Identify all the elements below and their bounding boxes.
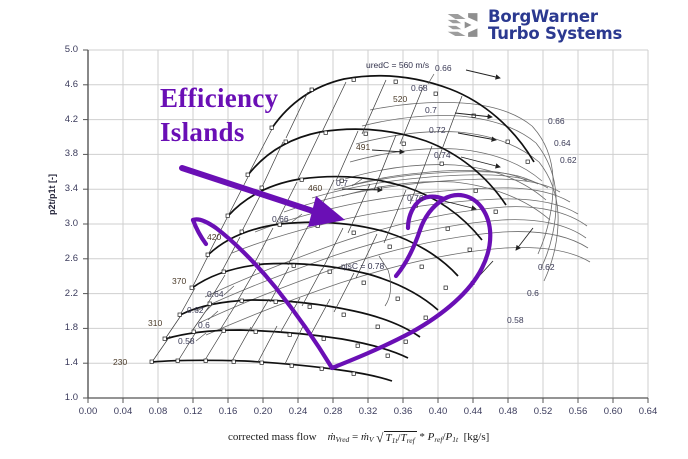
x-axis-t1t-sub: 1t [392,436,398,445]
chart-canvas [0,0,688,459]
x-tick-label: 0.28 [313,406,353,417]
x-tick-label: 0.20 [243,406,283,417]
y-tick-label: 3.0 [52,218,78,229]
efficiency-label: 0.7 [336,178,348,188]
efficiency-label: 0.72 [429,125,446,135]
efficiency-label: 0.6 [527,288,539,298]
efficiency-label: 0.64 [554,138,571,148]
y-tick-label: 1.4 [52,357,78,368]
speed-label-370: 370 [172,276,186,286]
efficiency-label: 0.62 [538,262,555,272]
x-tick-label: 0.00 [68,406,108,417]
x-tick-label: 0.60 [593,406,633,417]
callout-line-1: Efficiency [160,82,278,116]
x-axis-title: corrected mass flow ṁVred = ṁV √T1t/Tref… [228,428,489,444]
y-tick-label: 2.6 [52,253,78,264]
y-axis-title: p2t/p1t [-] [47,174,57,215]
x-axis-p1t-sub: 1t [452,435,458,444]
efficiency-label: 0.58 [507,315,524,325]
x-axis-pref-sub: ref [434,435,442,444]
speed-unit-label: uredC = 560 m/s [366,60,429,70]
x-axis-title-text: corrected mass flow [228,431,317,443]
x-tick-label: 0.64 [628,406,668,417]
efficiency-label: 0.7 [425,105,437,115]
y-tick-label: 2.2 [52,288,78,299]
x-tick-label: 0.04 [103,406,143,417]
x-axis-units: [kg/s] [464,431,490,443]
x-tick-label: 0.08 [138,406,178,417]
y-tick-label: 1.8 [52,322,78,333]
efficiency-label: 0.62 [187,305,204,315]
efficiency-label: 0.58 [178,336,195,346]
compressor-map-page: BorgWarner Turbo Systems [0,0,688,459]
efficiency-label: 0.66 [548,116,565,126]
x-axis-sub-vred: Vred [336,435,350,444]
x-tick-label: 0.52 [523,406,563,417]
speed-label-491: 491 [356,142,370,152]
x-tick-label: 0.16 [208,406,248,417]
x-tick-label: 0.32 [348,406,388,417]
efficiency-islands-callout: Efficiency Islands [160,82,278,150]
x-tick-label: 0.56 [558,406,598,417]
x-tick-label: 0.12 [173,406,213,417]
efficiency-label: 0.74 [434,150,451,160]
efficiency-label: 0.66 [272,214,289,224]
speed-label-460: 460 [308,183,322,193]
y-tick-label: 4.2 [52,114,78,125]
efficiency-label: 0.6 [198,320,210,330]
speed-label-310: 310 [148,318,162,328]
efficiency-series-label: ηisC = 0.78 [341,261,384,271]
compressor-map-chart: 5.0 4.6 4.2 3.8 3.4 3.0 2.6 2.2 1.8 1.4 … [0,0,688,459]
y-tick-label: 3.8 [52,148,78,159]
callout-line-2: Islands [160,116,278,150]
x-tick-label: 0.36 [383,406,423,417]
speed-label-420: 420 [207,232,221,242]
y-tick-label: 5.0 [52,44,78,55]
x-tick-label: 0.40 [418,406,458,417]
y-tick-label: 1.0 [52,392,78,403]
efficiency-label: 0.76 [407,193,424,203]
x-tick-label: 0.48 [488,406,528,417]
x-tick-label: 0.24 [278,406,318,417]
x-tick-label: 0.44 [453,406,493,417]
efficiency-label: 0.68 [411,83,428,93]
y-tick-label: 4.6 [52,79,78,90]
efficiency-label: 0.62 [560,155,577,165]
x-axis-sub-v: V [369,435,374,444]
efficiency-label: 0.66 [435,63,452,73]
speed-label-230: 230 [113,357,127,367]
efficiency-label: 0.64 [207,289,224,299]
speed-label-520: 520 [393,94,407,104]
x-axis-tref-sub: ref [407,436,415,445]
